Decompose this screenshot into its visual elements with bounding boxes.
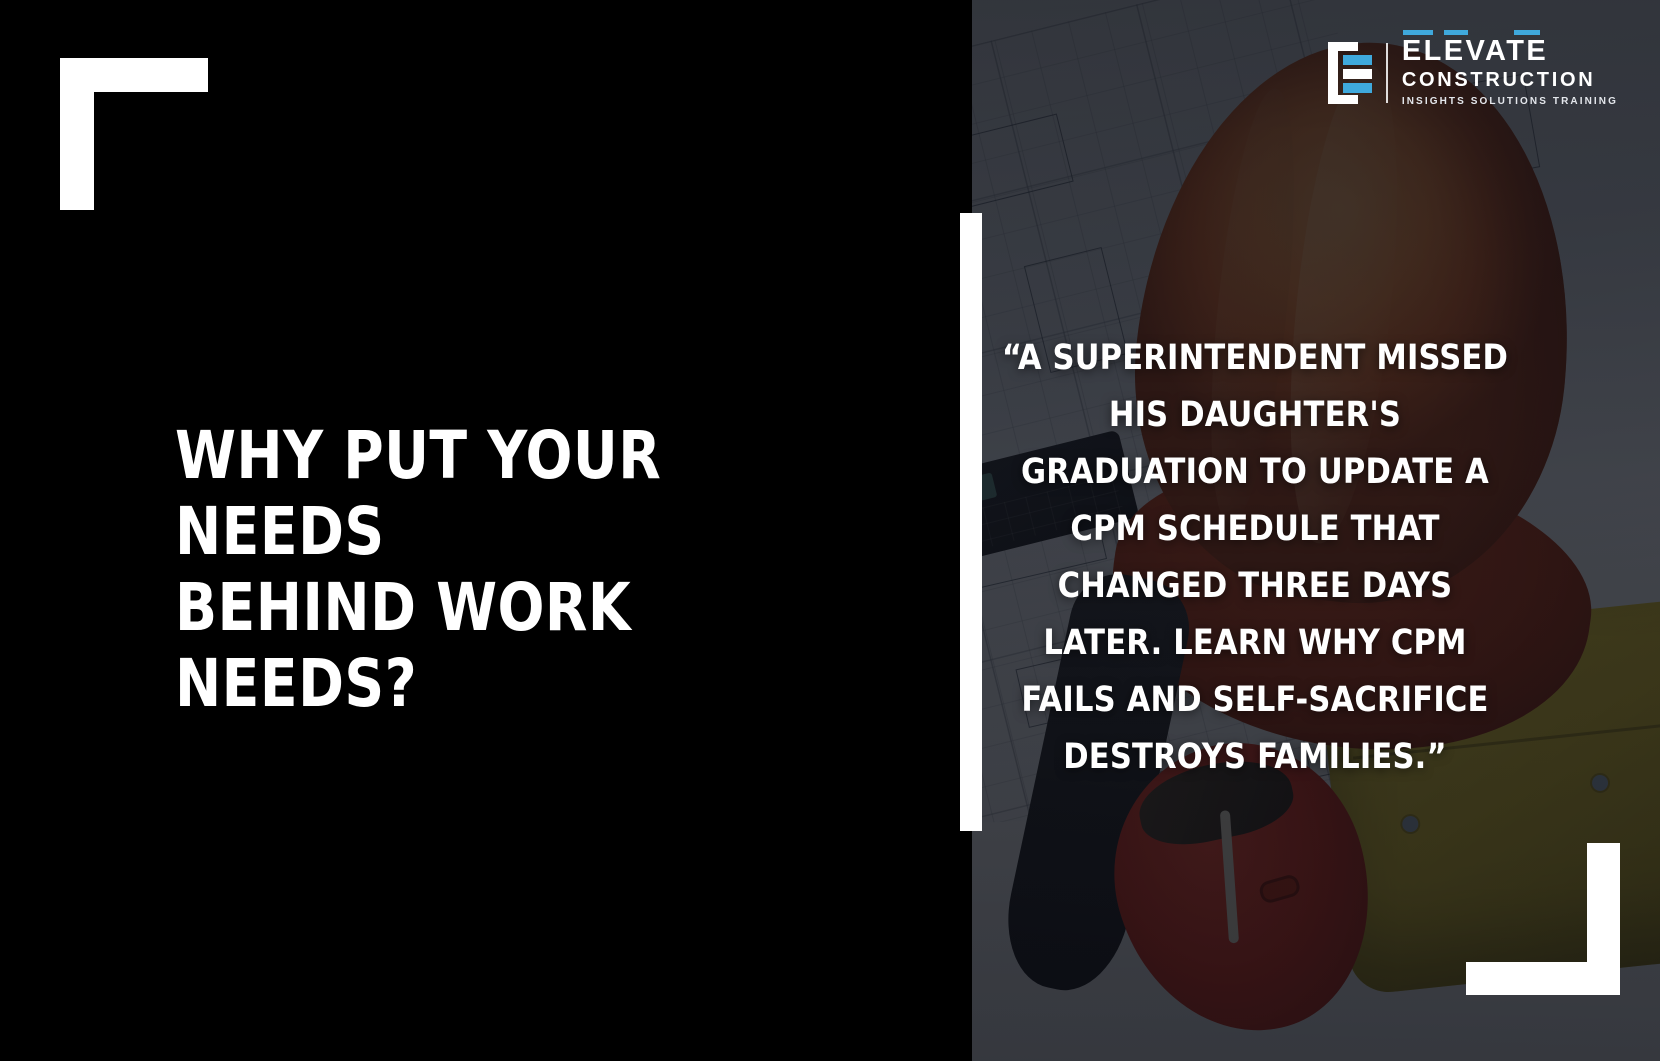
corner-bracket-top-left-icon (60, 58, 208, 210)
vertical-divider-bar (960, 213, 982, 831)
logo-brand-name-text: ELEVATE (1402, 35, 1548, 67)
bracket-horizontal-bar (1466, 962, 1620, 995)
logo-divider (1386, 43, 1388, 103)
mark-bottom-arm (1328, 95, 1358, 104)
bracket-vertical-bar (60, 58, 94, 210)
elevate-e-mark-icon (1328, 42, 1372, 104)
slide-canvas: WHY PUT YOUR NEEDS BEHIND WORK NEEDS? EL… (0, 0, 1660, 1061)
corner-bracket-bottom-right-icon (1466, 843, 1620, 995)
logo-accent-tick (1514, 30, 1540, 35)
mark-bar-accent (1343, 83, 1372, 93)
logo-accent-tick (1444, 30, 1468, 35)
logo-tagline: INSIGHTS SOLUTIONS TRAINING (1402, 95, 1618, 109)
logo-brand-name: ELEVATE (1402, 36, 1548, 66)
page-title: WHY PUT YOUR NEEDS BEHIND WORK NEEDS? (175, 418, 733, 722)
mark-top-arm (1328, 42, 1358, 51)
mark-bar-accent (1343, 55, 1372, 65)
mark-bar-white (1343, 69, 1372, 79)
quote-text: “A SUPERINTENDENT MISSED HIS DAUGHTER'S … (998, 330, 1512, 786)
logo-accent-tick (1403, 30, 1433, 35)
elevate-construction-logo[interactable]: ELEVATE CONSTRUCTION INSIGHTS SOLUTIONS … (1328, 36, 1618, 109)
logo-wordmark: ELEVATE CONSTRUCTION INSIGHTS SOLUTIONS … (1402, 36, 1618, 109)
logo-brand-subname: CONSTRUCTION (1402, 68, 1596, 92)
